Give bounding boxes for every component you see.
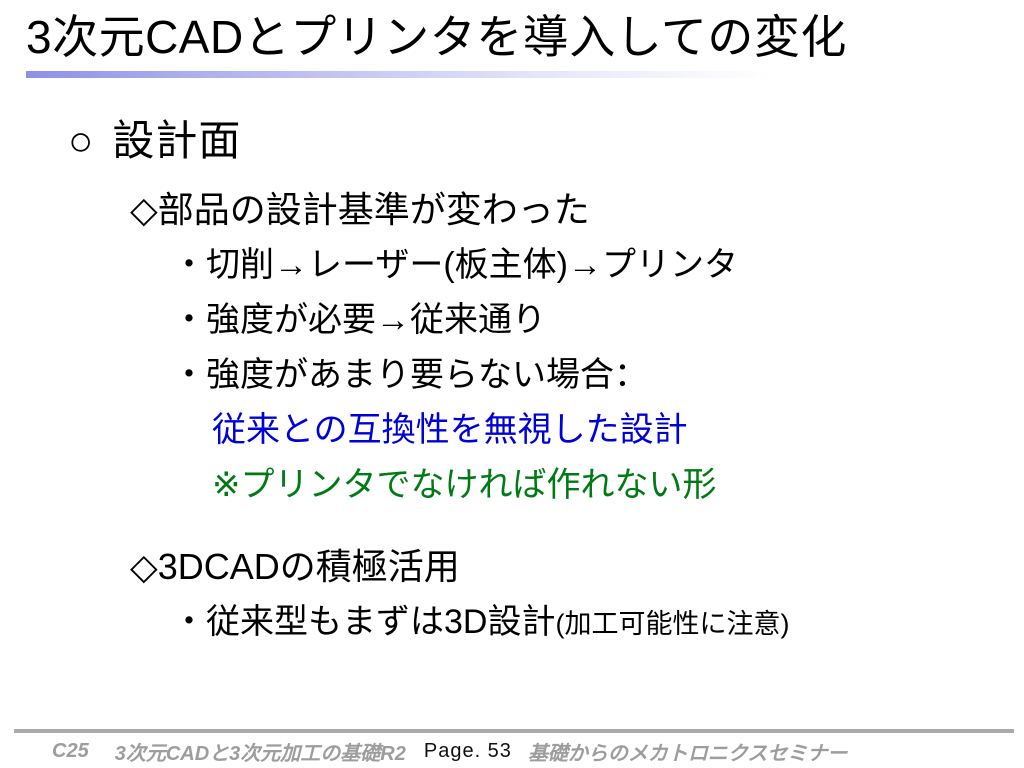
- diamond-bullet-icon: ◇: [130, 189, 158, 230]
- group-heading-2-label: 3DCADの積極活用: [158, 546, 460, 587]
- list-item-label: 強度があまり要らない場合：: [206, 356, 648, 394]
- diamond-bullet-icon: ◇: [130, 546, 158, 587]
- group-heading-1: ◇部品の設計基準が変わった: [130, 182, 1024, 238]
- section-heading: ○設計面: [68, 110, 1024, 172]
- spacer: [0, 513, 1024, 539]
- slide-body: ○設計面 ◇部品の設計基準が変わった ・切削→レーザー(板主体)→プリンタ ・強…: [0, 110, 1024, 652]
- group-heading-2: ◇3DCADの積極活用: [130, 539, 1024, 595]
- footer-seminar-title: 基礎からのメカトロニクスセミナー: [528, 737, 847, 766]
- footer-page-number: Page. 53: [424, 740, 512, 763]
- list-item: ・従来型もまずは3D設計(加工可能性に注意): [172, 595, 1024, 652]
- list-item: ・強度があまり要らない場合：: [172, 348, 1024, 403]
- title-underline-accent: [26, 71, 771, 78]
- footer-course-code: C25: [52, 740, 89, 763]
- slide-canvas: 3次元CADとプリンタを導入しての変化 ○設計面 ◇部品の設計基準が変わった ・…: [0, 0, 1024, 768]
- emphasis-line-green: ※プリンタでなければ作れない形: [212, 458, 1024, 513]
- list-item-label: 従来型もまずは3D設計: [206, 603, 555, 641]
- list-item-note: (加工可能性に注意): [555, 609, 789, 639]
- dot-bullet-icon: ・: [172, 356, 206, 394]
- dot-bullet-icon: ・: [172, 301, 206, 339]
- dot-bullet-icon: ・: [172, 603, 206, 641]
- slide-footer: C25 3次元CADと3次元加工の基礎R2 Page. 53 基礎からのメカトロ…: [14, 736, 1024, 766]
- group-heading-1-label: 部品の設計基準が変わった: [158, 189, 590, 230]
- footer-divider: [14, 729, 1014, 733]
- emphasis-line-blue: 従来との互換性を無視した設計: [212, 403, 1024, 458]
- circle-bullet-icon: ○: [68, 117, 94, 164]
- slide-title-block: 3次元CADとプリンタを導入しての変化: [26, 8, 1006, 66]
- list-item-label: 強度が必要→従来通り: [206, 301, 546, 339]
- section-heading-label: 設計面: [112, 117, 241, 164]
- spacer: [0, 172, 1024, 182]
- list-item: ・強度が必要→従来通り: [172, 293, 1024, 348]
- list-item-label: 切削→レーザー(板主体)→プリンタ: [206, 246, 738, 284]
- footer-course-title: 3次元CADと3次元加工の基礎R2: [115, 737, 406, 766]
- dot-bullet-icon: ・: [172, 246, 206, 284]
- list-item: ・切削→レーザー(板主体)→プリンタ: [172, 238, 1024, 293]
- page-title: 3次元CADとプリンタを導入しての変化: [26, 8, 1006, 66]
